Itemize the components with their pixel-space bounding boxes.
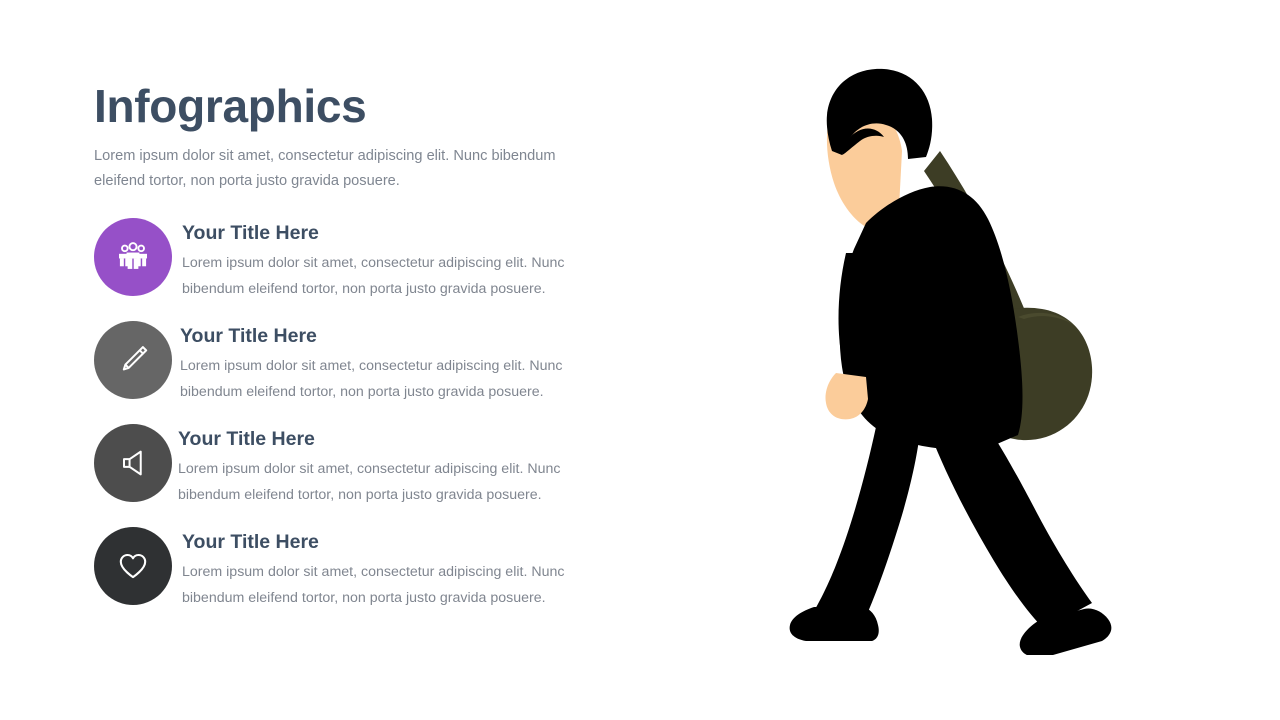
feature-title: Your Title Here bbox=[178, 428, 598, 451]
feature-description: Lorem ipsum dolor sit amet, consectetur … bbox=[182, 560, 590, 611]
feature-title: Your Title Here bbox=[182, 222, 602, 245]
feature-item-audio[interactable]: Your Title Here Lorem ipsum dolor sit am… bbox=[94, 424, 654, 527]
feature-title: Your Title Here bbox=[180, 325, 600, 348]
people-group-icon[interactable] bbox=[94, 218, 172, 296]
feature-text-block: Your Title Here Lorem ipsum dolor sit am… bbox=[182, 531, 602, 611]
feature-title: Your Title Here bbox=[182, 531, 602, 554]
pencil-icon[interactable] bbox=[94, 321, 172, 399]
speaker-icon[interactable] bbox=[94, 424, 172, 502]
feature-item-people[interactable]: Your Title Here Lorem ipsum dolor sit am… bbox=[94, 218, 654, 321]
page-subtitle: Lorem ipsum dolor sit amet, consectetur … bbox=[94, 144, 586, 194]
feature-item-favorite[interactable]: Your Title Here Lorem ipsum dolor sit am… bbox=[94, 527, 654, 630]
header-block: Infographics Lorem ipsum dolor sit amet,… bbox=[94, 82, 614, 194]
heart-icon[interactable] bbox=[94, 527, 172, 605]
feature-text-block: Your Title Here Lorem ipsum dolor sit am… bbox=[178, 428, 598, 508]
feature-item-edit[interactable]: Your Title Here Lorem ipsum dolor sit am… bbox=[94, 321, 654, 424]
feature-description: Lorem ipsum dolor sit amet, consectetur … bbox=[180, 354, 588, 405]
feature-text-block: Your Title Here Lorem ipsum dolor sit am… bbox=[182, 222, 602, 302]
feature-text-block: Your Title Here Lorem ipsum dolor sit am… bbox=[180, 325, 600, 405]
feature-description: Lorem ipsum dolor sit amet, consectetur … bbox=[178, 457, 586, 508]
walking-businessman-illustration bbox=[780, 55, 1140, 655]
page-title: Infographics bbox=[94, 82, 614, 130]
feature-list: Your Title Here Lorem ipsum dolor sit am… bbox=[94, 218, 654, 630]
feature-description: Lorem ipsum dolor sit amet, consectetur … bbox=[182, 251, 590, 302]
